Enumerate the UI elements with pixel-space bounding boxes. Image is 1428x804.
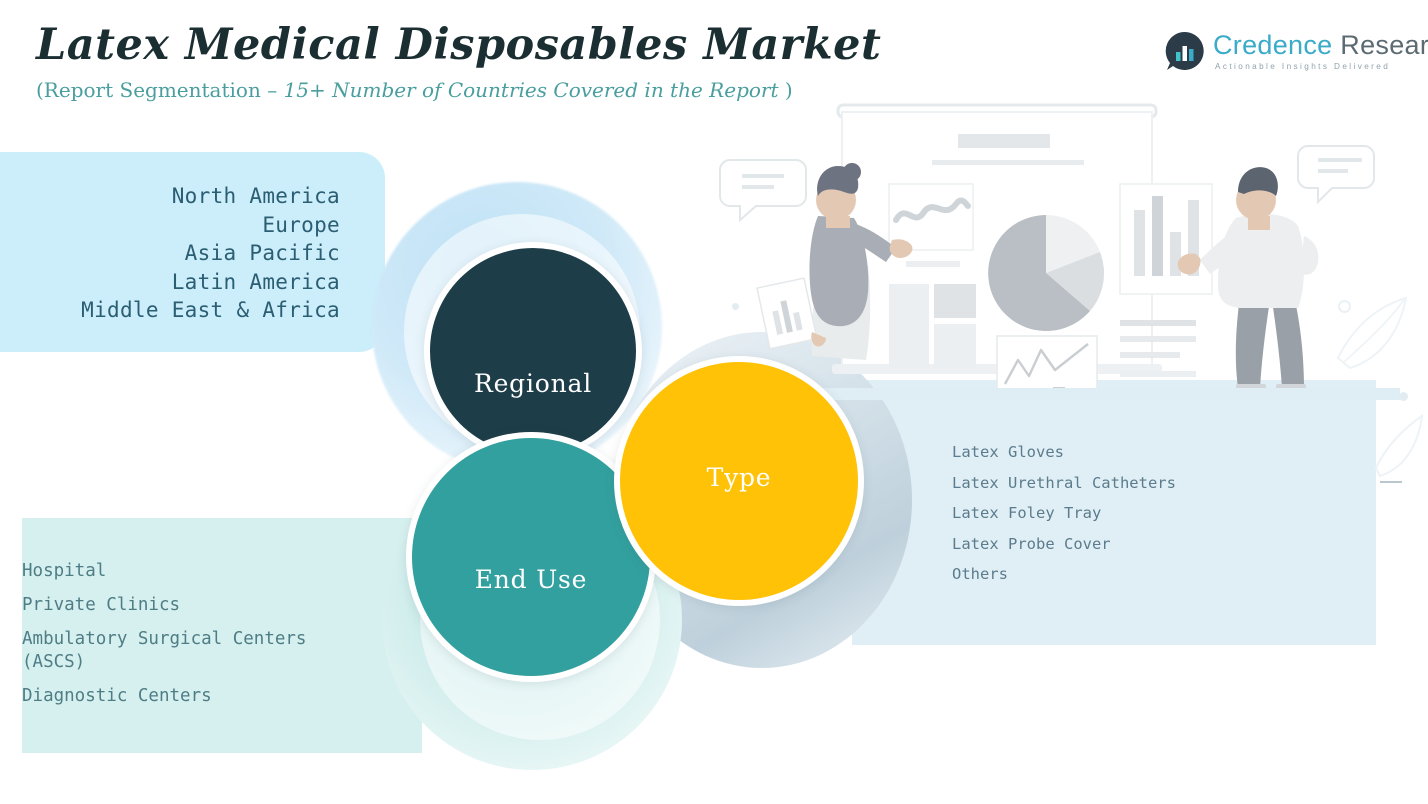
dash-decor-icon <box>1380 481 1402 483</box>
bar-chart-circle-icon <box>1163 30 1205 72</box>
page-subtitle: (Report Segmentation – 15+ Number of Cou… <box>36 78 793 102</box>
brand-logo[interactable]: Credence Research Actionable Insights De… <box>1163 28 1395 78</box>
list-item: Latex Probe Cover <box>952 533 1372 555</box>
regional-circle[interactable]: Regional <box>424 242 642 460</box>
list-item: North America <box>0 182 340 211</box>
end-use-circle-label: End Use <box>475 565 588 594</box>
list-item: Latin America <box>0 268 340 297</box>
regional-circle-label: Regional <box>474 369 592 398</box>
end-use-items-list: Hospital Private Clinics Ambulatory Surg… <box>22 560 352 719</box>
list-item: Ambulatory Surgical Centers (ASCS) <box>22 628 352 674</box>
type-items-list: Latex Gloves Latex Urethral Catheters La… <box>952 441 1372 594</box>
type-circle-label: Type <box>707 463 772 492</box>
infographic-canvas: Latex Medical Disposables Market (Report… <box>0 0 1428 804</box>
list-item: Diagnostic Centers <box>22 685 352 708</box>
speech-bubble-icon <box>720 160 806 220</box>
list-item: Latex Urethral Catheters <box>952 472 1372 494</box>
list-item: Asia Pacific <box>0 239 340 268</box>
speech-bubble-icon <box>1298 146 1374 202</box>
list-item: Europe <box>0 211 340 240</box>
list-item: Private Clinics <box>22 594 352 617</box>
list-item: Hospital <box>22 560 352 583</box>
regional-items-list: North America Europe Asia Pacific Latin … <box>0 182 340 325</box>
list-item: Latex Gloves <box>952 441 1372 463</box>
brand-tagline: Actionable Insights Delivered <box>1215 62 1390 71</box>
brand-name-first: Credence <box>1213 30 1332 60</box>
business-presentation-illustration <box>700 88 1400 400</box>
list-item: Latex Foley Tray <box>952 502 1372 524</box>
page-title: Latex Medical Disposables Market <box>36 20 881 70</box>
type-circle[interactable]: Type <box>614 356 864 606</box>
dot-decor-icon <box>1399 392 1408 401</box>
brand-name-second: Research <box>1332 30 1428 60</box>
subtitle-prefix: (Report Segmentation – <box>36 78 277 102</box>
list-item: Middle East & Africa <box>0 296 340 325</box>
list-item: Others <box>952 563 1372 585</box>
brand-name: Credence Research <box>1213 30 1428 61</box>
